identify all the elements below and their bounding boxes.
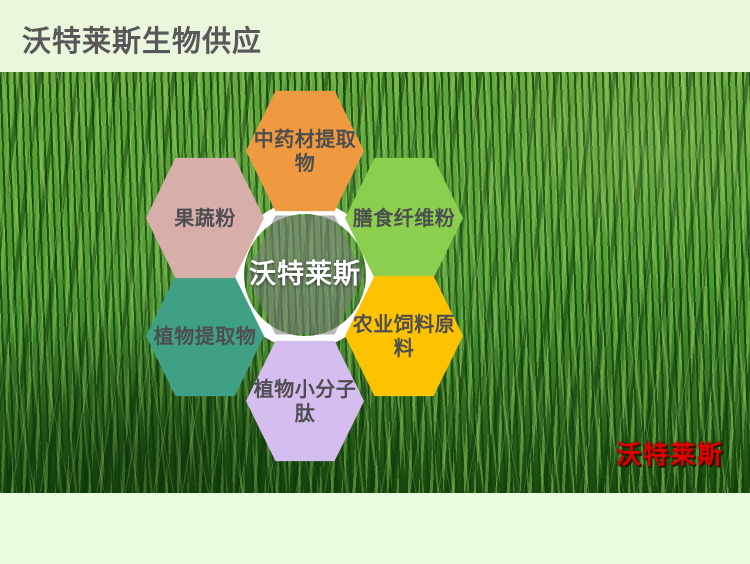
corner-brand-logo: 沃特莱斯 <box>616 441 724 469</box>
page-footer <box>0 493 750 564</box>
page-title: 沃特莱斯生物供应 <box>22 18 262 60</box>
hex-node-label: 果蔬粉 <box>168 206 242 230</box>
hexagon-diagram: 中药材提取物 膳食纤维粉 农业饲料原料 植物小分子肽 植物提取物 果蔬粉 沃特莱… <box>0 72 750 493</box>
hex-node-center-brand[interactable]: 沃特莱斯 <box>246 213 364 337</box>
page-header: 沃特莱斯生物供应 <box>0 0 750 72</box>
hex-node-plant-small-molecule-peptide[interactable]: 植物小分子肽 <box>246 337 364 465</box>
slide-page: 沃特莱斯生物供应 中药材提取物 膳食纤维粉 农业饲料原料 植物小分子肽 植物提取… <box>0 0 750 564</box>
center-brand-label: 沃特莱斯 <box>249 259 361 291</box>
hero-banner: 中药材提取物 膳食纤维粉 农业饲料原料 植物小分子肽 植物提取物 果蔬粉 沃特莱… <box>0 72 750 493</box>
hex-node-tcm-extract[interactable]: 中药材提取物 <box>246 87 364 215</box>
hex-node-label: 植物小分子肽 <box>246 377 364 426</box>
hex-node-label: 中药材提取物 <box>246 127 364 176</box>
